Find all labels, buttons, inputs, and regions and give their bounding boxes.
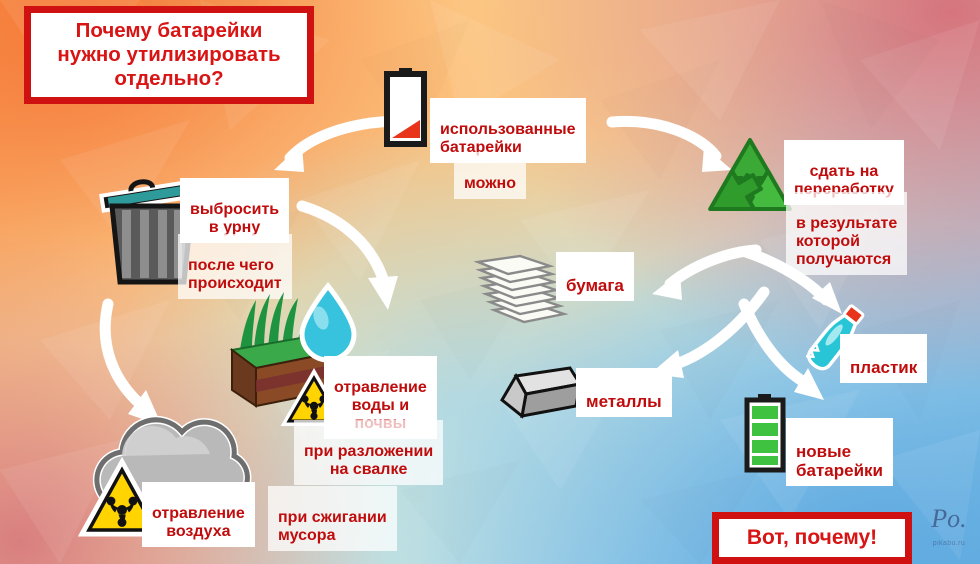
label-metals-text: металлы [586, 392, 662, 411]
label-used-batteries-text: использованные батарейки [440, 121, 576, 156]
conclusion-box: Вот, почему! [712, 512, 912, 564]
label-as-result: в результате которой получаются [786, 192, 907, 275]
label-burning-text: при сжигании мусора [278, 509, 387, 544]
label-new-batteries-text: новые батарейки [796, 442, 883, 480]
label-throw-in-bin: выбросить в урну [180, 178, 289, 243]
full-battery-icon [744, 394, 786, 474]
label-air: отравление воздуха [142, 482, 255, 547]
watermark: Po. pikabu.ru [924, 506, 974, 547]
watermark-logo: Po. [924, 506, 974, 532]
label-paper-text: бумага [566, 276, 624, 295]
page-title-text: Почему батарейки нужно утилизировать отд… [57, 19, 280, 90]
label-throw-in-bin-text: выбросить в урну [190, 201, 279, 236]
low-battery-icon [384, 68, 426, 146]
label-paper: бумага [556, 252, 634, 301]
label-plastic-text: пластик [850, 358, 917, 377]
label-burning: при сжигании мусора [268, 486, 397, 551]
conclusion-text: Вот, почему! [747, 526, 877, 550]
label-mozhno: можно [454, 152, 526, 199]
label-landfill-text: при разложении на свалке [304, 443, 433, 478]
label-plastic: пластик [840, 334, 927, 383]
label-metals: металлы [576, 368, 672, 417]
watermark-site: pikabu.ru [924, 540, 974, 547]
label-as-result-text: в результате которой получаются [796, 215, 897, 268]
label-air-text: отравление воздуха [152, 505, 245, 540]
infographic-poster: Почему батарейки нужно утилизировать отд… [0, 0, 980, 564]
metal-ingot-icon [494, 366, 584, 426]
label-landfill: при разложении на свалке [294, 420, 443, 485]
page-title: Почему батарейки нужно утилизировать отд… [24, 6, 314, 104]
label-mozhno-text: можно [464, 175, 516, 192]
label-new-batteries: новые батарейки [786, 418, 893, 486]
